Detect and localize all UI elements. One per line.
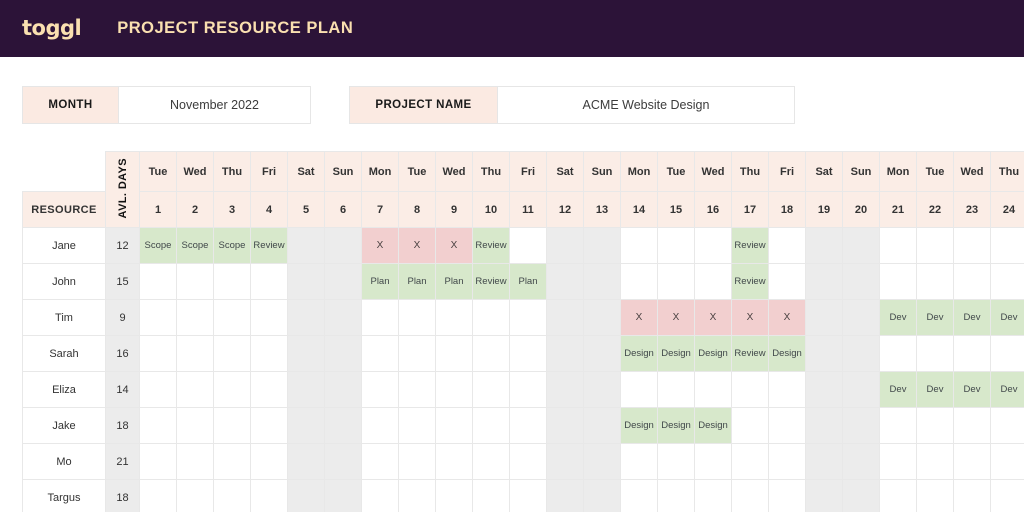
avl-days-header: AVL. DAYS [106,152,140,228]
day-number-header: 1 [140,192,177,228]
schedule-cell-task[interactable]: Design [769,336,806,372]
schedule-cell-empty[interactable] [510,372,547,408]
schedule-cell-task[interactable]: Design [621,408,658,444]
schedule-cell-empty[interactable] [621,480,658,512]
schedule-cell-empty[interactable] [510,300,547,336]
avl-days-cell[interactable]: 21 [106,444,140,480]
schedule-cell-weekend[interactable] [325,444,362,480]
day-of-week-header: Fri [769,152,806,192]
schedule-cell-empty[interactable] [695,372,732,408]
schedule-cell-weekend[interactable] [584,444,621,480]
day-number-header: 9 [436,192,473,228]
day-of-week-header: Sun [584,152,621,192]
resource-name-cell[interactable]: Targus [23,480,106,512]
day-number-header: 21 [880,192,917,228]
day-number-header: 6 [325,192,362,228]
schedule-cell-weekend[interactable] [584,336,621,372]
schedule-cell-weekend[interactable] [806,408,843,444]
schedule-cell-empty[interactable] [177,408,214,444]
day-of-week-header: Thu [214,152,251,192]
resource-name-cell[interactable]: Mo [23,444,106,480]
schedule-cell-empty[interactable] [214,300,251,336]
day-number-header: 3 [214,192,251,228]
schedule-cell-weekend[interactable] [547,336,584,372]
day-number-header: 11 [510,192,547,228]
day-of-week-header: Sun [843,152,880,192]
schedule-cell-task[interactable]: Design [621,336,658,372]
table-row: John15PlanPlanPlanReviewPlanReview [23,264,1024,300]
schedule-cell-empty[interactable] [177,300,214,336]
schedule-cell-empty[interactable] [954,408,991,444]
schedule-cell-empty[interactable] [880,264,917,300]
day-number-header: 24 [991,192,1024,228]
schedule-cell-weekend[interactable] [584,264,621,300]
schedule-cell-task[interactable]: Plan [362,264,399,300]
day-of-week-header: Mon [362,152,399,192]
schedule-cell-empty[interactable] [954,264,991,300]
resource-name-cell[interactable]: Jake [23,408,106,444]
schedule-cell-weekend[interactable] [325,336,362,372]
schedule-cell-empty[interactable] [214,264,251,300]
schedule-cell-weekend[interactable] [843,372,880,408]
schedule-cell-empty[interactable] [917,408,954,444]
schedule-cell-empty[interactable] [214,372,251,408]
day-number-header: 15 [658,192,695,228]
schedule-cell-empty[interactable] [251,480,288,512]
schedule-cell-empty[interactable] [473,336,510,372]
corner-cell-blank [23,152,106,192]
schedule-cell-empty[interactable] [362,372,399,408]
avl-days-cell[interactable]: 16 [106,336,140,372]
resource-name-cell[interactable]: Jane [23,228,106,264]
schedule-cell-empty[interactable] [880,480,917,512]
schedule-cell-task[interactable]: Scope [177,228,214,264]
schedule-cell-empty[interactable] [362,300,399,336]
schedule-cell-empty[interactable] [917,444,954,480]
page-title: PROJECT RESOURCE PLAN [117,19,353,38]
schedule-cell-empty[interactable] [177,264,214,300]
schedule-cell-weekend[interactable] [547,372,584,408]
day-number-header: 14 [621,192,658,228]
schedule-cell-empty[interactable] [362,480,399,512]
schedule-cell-empty[interactable] [251,264,288,300]
schedule-cell-weekend[interactable] [843,336,880,372]
schedule-cell-weekend[interactable] [584,372,621,408]
avl-days-header-label: AVL. DAYS [117,158,129,218]
schedule-cell-empty[interactable] [658,228,695,264]
schedule-cell-weekend[interactable] [325,300,362,336]
schedule-cell-weekend[interactable] [584,408,621,444]
schedule-cell-empty[interactable] [473,372,510,408]
table-row: Targus18 [23,480,1024,512]
schedule-cell-empty[interactable] [695,480,732,512]
month-filter[interactable]: MONTH November 2022 [22,86,311,124]
schedule-cell-empty[interactable] [436,444,473,480]
schedule-cell-empty[interactable] [769,408,806,444]
schedule-cell-empty[interactable] [399,480,436,512]
schedule-cell-weekend[interactable] [325,228,362,264]
schedule-cell-weekend[interactable] [288,228,325,264]
schedule-cell-empty[interactable] [769,480,806,512]
schedule-cell-empty[interactable] [177,444,214,480]
avl-days-cell[interactable]: 15 [106,264,140,300]
schedule-cell-empty[interactable] [140,264,177,300]
schedule-cell-weekend[interactable] [843,408,880,444]
schedule-cell-task[interactable]: Design [658,408,695,444]
resource-name-cell[interactable]: Sarah [23,336,106,372]
day-number-header: 10 [473,192,510,228]
avl-days-cell[interactable]: 14 [106,372,140,408]
schedule-cell-empty[interactable] [436,300,473,336]
schedule-cell-empty[interactable] [140,444,177,480]
schedule-cell-empty[interactable] [991,480,1024,512]
schedule-cell-weekend[interactable] [325,480,362,512]
schedule-cell-empty[interactable] [177,372,214,408]
schedule-cell-task[interactable]: Dev [991,372,1024,408]
day-of-week-header: Tue [658,152,695,192]
schedule-cell-empty[interactable] [251,444,288,480]
schedule-cell-weekend[interactable] [843,264,880,300]
schedule-cell-empty[interactable] [732,372,769,408]
day-of-week-header: Mon [621,152,658,192]
schedule-cell-task[interactable]: Plan [399,264,436,300]
schedule-cell-empty[interactable] [991,444,1024,480]
resource-name-cell[interactable]: Tim [23,300,106,336]
schedule-cell-empty[interactable] [251,408,288,444]
schedule-cell-weekend[interactable] [547,480,584,512]
schedule-cell-blocked[interactable]: X [621,300,658,336]
schedule-cell-empty[interactable] [362,408,399,444]
day-number-header: 17 [732,192,769,228]
schedule-cell-task[interactable]: Review [473,228,510,264]
avl-days-cell[interactable]: 18 [106,408,140,444]
schedule-cell-empty[interactable] [436,372,473,408]
day-number-header: 2 [177,192,214,228]
schedule-cell-empty[interactable] [769,264,806,300]
avl-days-cell[interactable]: 18 [106,480,140,512]
schedule-cell-weekend[interactable] [806,480,843,512]
schedule-cell-empty[interactable] [214,336,251,372]
avl-days-cell[interactable]: 9 [106,300,140,336]
schedule-cell-task[interactable]: Review [251,228,288,264]
schedule-cell-blocked[interactable]: X [732,300,769,336]
schedule-cell-empty[interactable] [991,336,1024,372]
schedule-cell-empty[interactable] [917,228,954,264]
schedule-cell-weekend[interactable] [806,300,843,336]
schedule-cell-weekend[interactable] [584,480,621,512]
schedule-cell-weekend[interactable] [325,372,362,408]
project-name-filter-label: PROJECT NAME [350,87,498,123]
schedule-cell-empty[interactable] [621,444,658,480]
day-of-week-header-row: AVL. DAYS TueWedThuFriSatSunMonTueWedThu… [23,152,1024,192]
schedule-cell-empty[interactable] [880,408,917,444]
schedule-cell-empty[interactable] [658,444,695,480]
schedule-cell-empty[interactable] [991,264,1024,300]
schedule-cell-empty[interactable] [880,228,917,264]
day-of-week-header: Wed [695,152,732,192]
schedule-cell-empty[interactable] [732,480,769,512]
day-of-week-header: Fri [510,152,547,192]
schedule-cell-empty[interactable] [177,336,214,372]
schedule-cell-empty[interactable] [510,408,547,444]
schedule-cell-weekend[interactable] [325,408,362,444]
resource-name-cell[interactable]: Eliza [23,372,106,408]
schedule-cell-empty[interactable] [621,372,658,408]
schedule-cell-weekend[interactable] [843,480,880,512]
schedule-cell-blocked[interactable]: X [436,228,473,264]
schedule-cell-weekend[interactable] [288,336,325,372]
day-of-week-header: Fri [251,152,288,192]
app-header: toggl PROJECT RESOURCE PLAN [0,0,1024,57]
schedule-cell-weekend[interactable] [547,264,584,300]
schedule-cell-empty[interactable] [251,336,288,372]
schedule-cell-empty[interactable] [399,372,436,408]
day-number-header: 8 [399,192,436,228]
schedule-cell-empty[interactable] [399,444,436,480]
schedule-cell-weekend[interactable] [288,480,325,512]
schedule-cell-task[interactable]: Design [695,336,732,372]
schedule-cell-empty[interactable] [621,264,658,300]
avl-days-cell[interactable]: 12 [106,228,140,264]
schedule-cell-weekend[interactable] [547,228,584,264]
schedule-cell-empty[interactable] [436,336,473,372]
schedule-cell-empty[interactable] [473,444,510,480]
schedule-cell-empty[interactable] [510,480,547,512]
schedule-cell-empty[interactable] [510,444,547,480]
day-number-header: 13 [584,192,621,228]
schedule-cell-task[interactable]: Dev [954,372,991,408]
schedule-cell-task[interactable]: Review [732,264,769,300]
schedule-cell-empty[interactable] [436,408,473,444]
schedule-cell-empty[interactable] [510,228,547,264]
schedule-cell-weekend[interactable] [288,300,325,336]
project-name-filter[interactable]: PROJECT NAME ACME Website Design [349,86,795,124]
schedule-cell-weekend[interactable] [547,444,584,480]
schedule-cell-task[interactable]: Dev [917,300,954,336]
toggl-logo: toggl [22,18,81,39]
schedule-cell-weekend[interactable] [288,372,325,408]
day-number-header: 19 [806,192,843,228]
schedule-cell-task[interactable]: Plan [436,264,473,300]
schedule-cell-task[interactable]: Scope [214,228,251,264]
schedule-cell-task[interactable]: Review [473,264,510,300]
schedule-cell-empty[interactable] [140,336,177,372]
schedule-cell-task[interactable]: Review [732,228,769,264]
day-of-week-header: Thu [991,152,1024,192]
day-number-header: 5 [288,192,325,228]
day-of-week-header: Thu [732,152,769,192]
day-of-week-header: Sun [325,152,362,192]
schedule-cell-task[interactable]: Dev [991,300,1024,336]
schedule-cell-task[interactable]: Scope [140,228,177,264]
schedule-cell-weekend[interactable] [288,408,325,444]
schedule-cell-blocked[interactable]: X [769,300,806,336]
schedule-cell-empty[interactable] [214,444,251,480]
month-filter-value[interactable]: November 2022 [119,87,310,123]
schedule-cell-weekend[interactable] [806,336,843,372]
schedule-cell-empty[interactable] [769,372,806,408]
schedule-cell-empty[interactable] [140,408,177,444]
schedule-cell-empty[interactable] [140,372,177,408]
schedule-cell-empty[interactable] [362,336,399,372]
day-of-week-header: Wed [954,152,991,192]
schedule-cell-blocked[interactable]: X [658,300,695,336]
schedule-cell-empty[interactable] [399,336,436,372]
schedule-cell-blocked[interactable]: X [695,300,732,336]
schedule-cell-empty[interactable] [473,480,510,512]
schedule-cell-empty[interactable] [473,408,510,444]
day-number-header: 18 [769,192,806,228]
day-number-header: 20 [843,192,880,228]
schedule-cell-empty[interactable] [991,408,1024,444]
schedule-cell-blocked[interactable]: X [362,228,399,264]
day-of-week-header: Mon [880,152,917,192]
schedule-cell-empty[interactable] [214,480,251,512]
resource-plan-table: AVL. DAYS TueWedThuFriSatSunMonTueWedThu… [22,151,1024,512]
schedule-cell-task[interactable]: Plan [510,264,547,300]
schedule-cell-empty[interactable] [510,336,547,372]
schedule-cell-weekend[interactable] [325,264,362,300]
schedule-cell-task[interactable]: Design [695,408,732,444]
schedule-cell-empty[interactable] [140,300,177,336]
schedule-cell-empty[interactable] [251,300,288,336]
schedule-cell-task[interactable]: Review [732,336,769,372]
table-row: Jane12ScopeScopeScopeReviewXXXReviewRevi… [23,228,1024,264]
schedule-cell-empty[interactable] [880,336,917,372]
day-of-week-header: Tue [917,152,954,192]
schedule-cell-task[interactable]: Dev [917,372,954,408]
schedule-cell-empty[interactable] [251,372,288,408]
day-number-header: 12 [547,192,584,228]
schedule-cell-empty[interactable] [658,372,695,408]
day-of-week-header: Tue [399,152,436,192]
day-number-header-row: RESOURCE 1234567891011121314151617181920… [23,192,1024,228]
schedule-cell-empty[interactable] [140,480,177,512]
schedule-cell-empty[interactable] [954,444,991,480]
schedule-cell-empty[interactable] [473,300,510,336]
schedule-cell-weekend[interactable] [584,300,621,336]
day-of-week-header: Wed [177,152,214,192]
schedule-cell-task[interactable]: Dev [880,372,917,408]
day-number-header: 4 [251,192,288,228]
project-name-filter-value[interactable]: ACME Website Design [498,87,794,123]
schedule-cell-empty[interactable] [917,264,954,300]
schedule-cell-empty[interactable] [695,228,732,264]
day-number-header: 23 [954,192,991,228]
table-row: Eliza14DevDevDevDev [23,372,1024,408]
filter-bar: MONTH November 2022 PROJECT NAME ACME We… [0,57,1024,135]
schedule-cell-empty[interactable] [695,264,732,300]
schedule-cell-task[interactable]: Design [658,336,695,372]
schedule-cell-empty[interactable] [621,228,658,264]
schedule-cell-empty[interactable] [954,336,991,372]
day-number-header: 22 [917,192,954,228]
table-body: Jane12ScopeScopeScopeReviewXXXReviewRevi… [23,228,1024,512]
schedule-cell-weekend[interactable] [806,444,843,480]
schedule-cell-empty[interactable] [658,264,695,300]
schedule-cell-weekend[interactable] [843,444,880,480]
schedule-cell-empty[interactable] [954,228,991,264]
schedule-cell-weekend[interactable] [584,228,621,264]
table-row: Tim9XXXXXDevDevDevDev [23,300,1024,336]
table-head: AVL. DAYS TueWedThuFriSatSunMonTueWedThu… [23,152,1024,228]
schedule-cell-weekend[interactable] [806,264,843,300]
day-of-week-header: Sat [806,152,843,192]
resource-plan-table-wrapper: AVL. DAYS TueWedThuFriSatSunMonTueWedThu… [22,151,1024,512]
schedule-cell-empty[interactable] [732,444,769,480]
schedule-cell-empty[interactable] [214,408,251,444]
day-of-week-header: Sat [288,152,325,192]
day-of-week-header: Wed [436,152,473,192]
schedule-cell-task[interactable]: Dev [880,300,917,336]
schedule-cell-weekend[interactable] [547,300,584,336]
day-of-week-header: Sat [547,152,584,192]
schedule-cell-empty[interactable] [399,300,436,336]
resource-name-cell[interactable]: John [23,264,106,300]
schedule-cell-weekend[interactable] [843,228,880,264]
schedule-cell-weekend[interactable] [288,444,325,480]
month-filter-label: MONTH [23,87,119,123]
schedule-cell-empty[interactable] [917,336,954,372]
schedule-cell-empty[interactable] [177,480,214,512]
schedule-cell-empty[interactable] [436,480,473,512]
schedule-cell-weekend[interactable] [806,228,843,264]
schedule-cell-blocked[interactable]: X [399,228,436,264]
schedule-cell-empty[interactable] [954,480,991,512]
schedule-cell-empty[interactable] [362,444,399,480]
schedule-cell-empty[interactable] [399,408,436,444]
table-row: Mo21 [23,444,1024,480]
schedule-cell-empty[interactable] [917,480,954,512]
table-row: Jake18DesignDesignDesign [23,408,1024,444]
day-of-week-header: Tue [140,152,177,192]
day-of-week-header: Thu [473,152,510,192]
schedule-cell-empty[interactable] [658,480,695,512]
day-number-header: 16 [695,192,732,228]
schedule-cell-empty[interactable] [991,228,1024,264]
schedule-cell-weekend[interactable] [547,408,584,444]
schedule-cell-task[interactable]: Dev [954,300,991,336]
schedule-cell-weekend[interactable] [806,372,843,408]
schedule-cell-empty[interactable] [732,408,769,444]
schedule-cell-empty[interactable] [880,444,917,480]
schedule-cell-empty[interactable] [695,444,732,480]
schedule-cell-weekend[interactable] [288,264,325,300]
day-number-header: 7 [362,192,399,228]
schedule-cell-empty[interactable] [769,228,806,264]
schedule-cell-weekend[interactable] [843,300,880,336]
schedule-cell-empty[interactable] [769,444,806,480]
table-row: Sarah16DesignDesignDesignReviewDesign [23,336,1024,372]
resource-column-header: RESOURCE [23,192,106,228]
